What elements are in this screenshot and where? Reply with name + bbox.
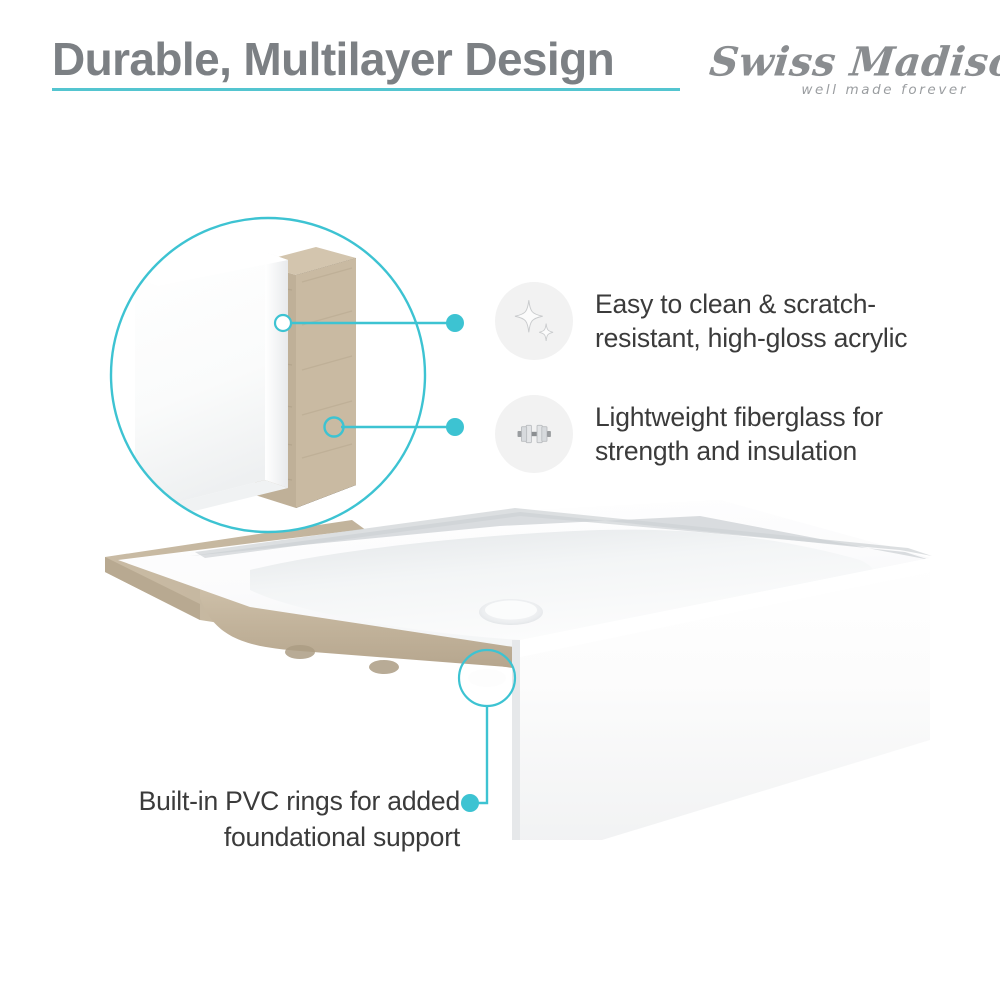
fiberglass-block-right xyxy=(296,258,356,508)
title-underline xyxy=(52,88,680,91)
brand-logo-text: Swiss Madison xyxy=(707,38,1000,85)
acrylic-face xyxy=(135,252,265,513)
pvc-ring-1 xyxy=(285,645,315,659)
page-title-wrap: Durable, Multilayer Design xyxy=(52,33,614,85)
brand-logo: Swiss Madison® well made forever xyxy=(710,36,972,102)
pvc-ring-2 xyxy=(369,660,399,674)
feature-label-fiberglass: Lightweight fiberglass for strength and … xyxy=(595,400,955,468)
drain-inner xyxy=(485,601,537,620)
leader-fiberglass-dot xyxy=(446,418,464,436)
feature-item-fiberglass: Lightweight fiberglass for strength and … xyxy=(495,395,955,473)
sparkle-icon-glyph xyxy=(508,295,560,347)
leader-acrylic-origin xyxy=(275,315,291,331)
pvc-ring-caption: Built-in PVC rings for added foundationa… xyxy=(80,783,460,855)
magnifier-cross-section xyxy=(111,218,425,532)
infographic-canvas: Durable, Multilayer Design Swiss Madison… xyxy=(0,0,1000,1000)
feature-label-acrylic: Easy to clean & scratch-resistant, high-… xyxy=(595,287,955,355)
product-artwork xyxy=(0,120,1000,840)
cross-section-acrylic xyxy=(135,252,288,520)
leader-pvc-dot xyxy=(461,794,479,812)
sparkle-icon xyxy=(495,282,573,360)
acrylic-edge xyxy=(265,252,288,488)
dumbbell-icon xyxy=(495,395,573,473)
leader-acrylic-dot xyxy=(446,314,464,332)
feature-item-acrylic: Easy to clean & scratch-resistant, high-… xyxy=(495,282,955,360)
page-title: Durable, Multilayer Design xyxy=(52,33,614,85)
header: Durable, Multilayer Design Swiss Madison… xyxy=(0,0,1000,130)
dumbbell-icon-glyph xyxy=(508,408,560,460)
leader-pvc-elbow xyxy=(478,706,487,803)
pvc-ring-3 xyxy=(468,669,506,687)
brand-logo-name: Swiss Madison® xyxy=(707,36,974,84)
